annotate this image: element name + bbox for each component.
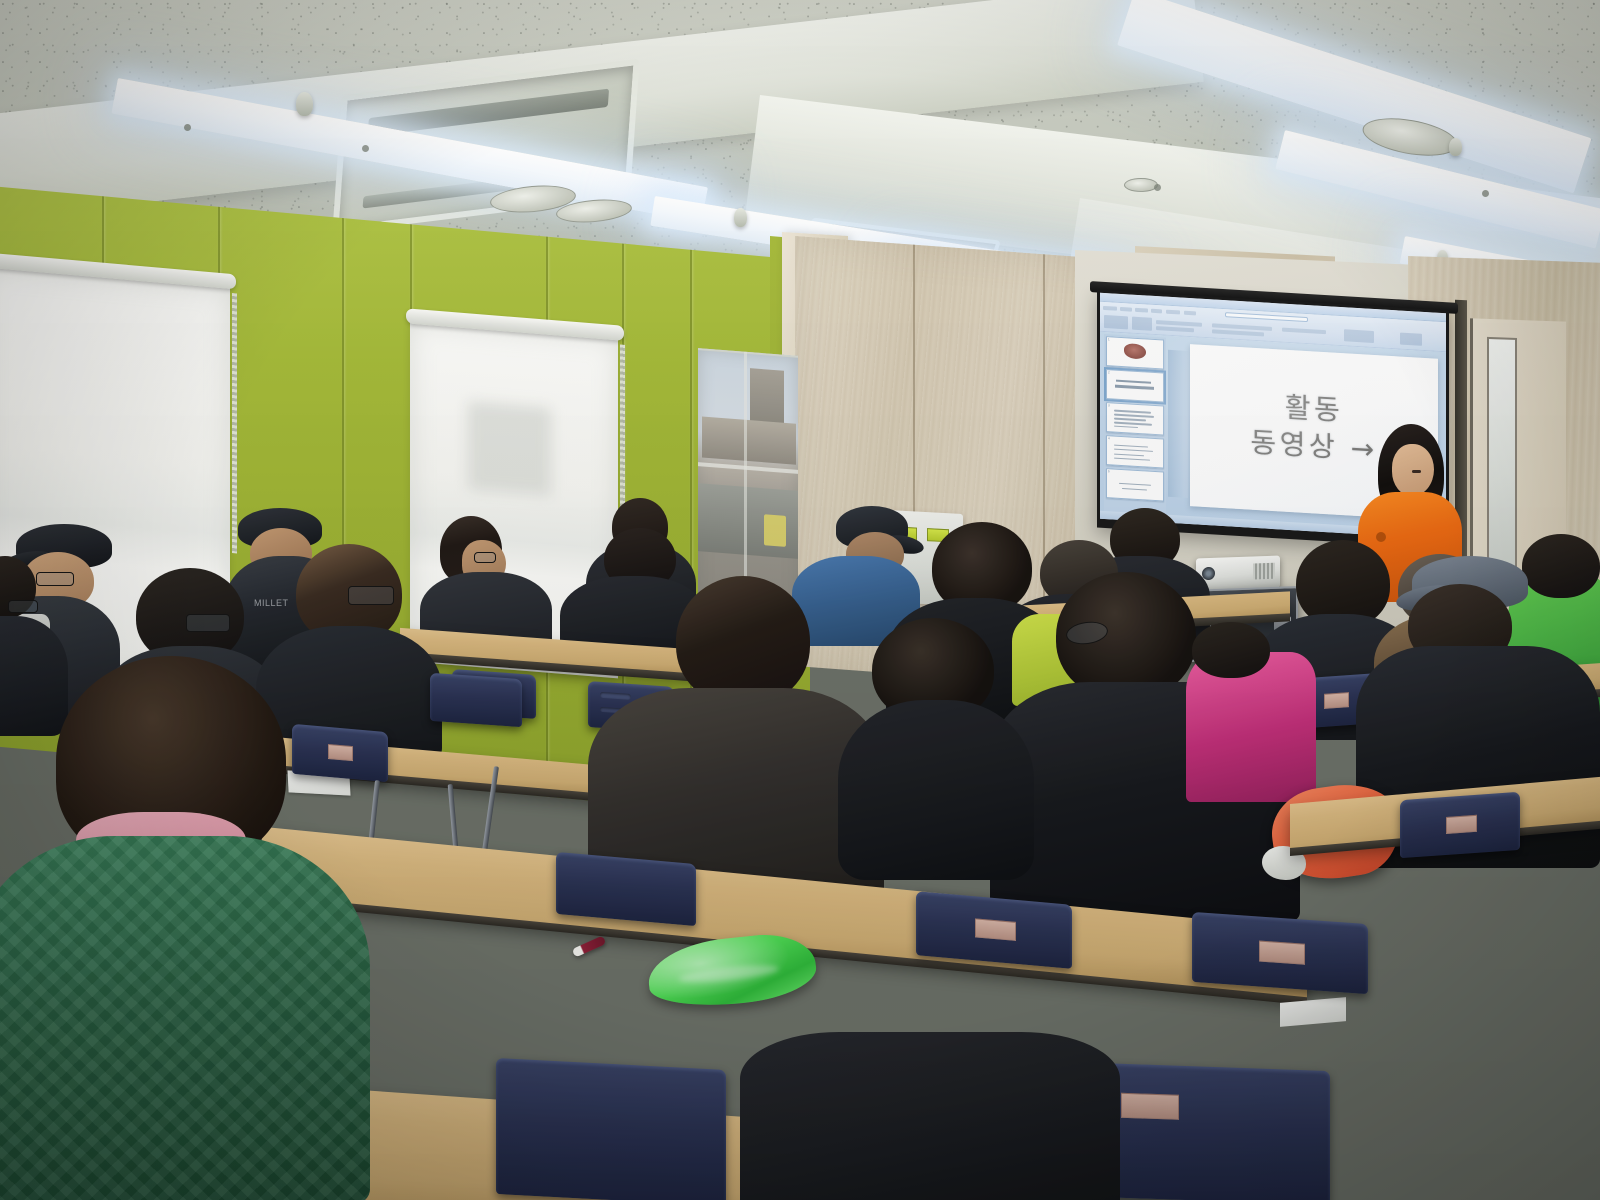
- chair-r2-1[interactable]: [292, 724, 388, 782]
- ceiling-sprinkler-4: [1482, 190, 1489, 197]
- glasses-icon-far-left: [8, 600, 38, 613]
- slide-thumbnail-title-line-1: [1116, 379, 1151, 384]
- chair-r1-2[interactable]: [916, 891, 1072, 969]
- chair-r2-2[interactable]: [430, 673, 522, 727]
- light-socket-1: [296, 92, 313, 116]
- green-quilted-jacket: [0, 836, 370, 1200]
- slide-thumbnail-image: [1124, 343, 1146, 359]
- slide-thumbnail-2[interactable]: 2: [1106, 369, 1164, 403]
- blind-shadow-patch: [468, 401, 551, 496]
- slide-number-5: 5: [1108, 470, 1110, 474]
- slide-number-1: 1: [1108, 337, 1110, 341]
- window-mullion-h: [698, 463, 798, 475]
- slide-number-2: 2: [1108, 370, 1110, 374]
- slide-number-4: 4: [1108, 436, 1110, 440]
- glasses-icon-flatcap: [36, 572, 74, 586]
- slide-thumbnail-title-line-2: [1115, 385, 1154, 390]
- light-socket-3: [1449, 138, 1462, 156]
- marker-pen[interactable]: [572, 935, 607, 957]
- classroom-scene: 1 2 3: [0, 0, 1600, 1200]
- slide-number-3: 3: [1108, 403, 1110, 407]
- glasses-icon-bald: [348, 586, 394, 605]
- millet-brand-label: MILLET: [254, 598, 289, 608]
- handout-paper-row1: [1280, 997, 1346, 1027]
- blind-chain-left[interactable]: [232, 293, 237, 553]
- glasses-icon-backrow: [474, 552, 496, 563]
- chair-r1-4[interactable]: [1400, 792, 1520, 858]
- presenter-smile: [1412, 470, 1421, 473]
- ribbon-search-box[interactable]: [1225, 312, 1308, 322]
- outside-roof-1: [702, 416, 796, 465]
- chair-r1-1[interactable]: [556, 852, 696, 926]
- slide-thumbnail-1[interactable]: 1: [1106, 336, 1164, 370]
- ceiling-sprinkler-3: [1154, 184, 1161, 191]
- slide-thumbnail-4[interactable]: 4: [1106, 435, 1164, 469]
- slide-thumbnail-3[interactable]: 3: [1106, 402, 1164, 436]
- outside-yellow-object: [764, 514, 786, 547]
- slide-pane-gutter: [1168, 350, 1188, 498]
- projector-vent: [1253, 563, 1275, 580]
- presenter-jacket-button: [1376, 532, 1386, 542]
- slide-thumbnail-5[interactable]: 5: [1106, 468, 1164, 502]
- ceiling-sprinkler-1: [184, 124, 191, 131]
- slide-thumbnail-pane[interactable]: 1 2 3: [1104, 334, 1166, 519]
- video-projector: [1196, 556, 1280, 591]
- door-vision-panel: [1487, 337, 1517, 568]
- chair-foreground-center[interactable]: [496, 1058, 726, 1200]
- light-socket-2: [734, 208, 747, 227]
- ceiling-speaker-icon-4: [1124, 178, 1158, 192]
- ceiling-sprinkler-2: [362, 145, 369, 152]
- chair-r1-3[interactable]: [1192, 912, 1368, 994]
- glasses-icon-row3: [186, 614, 230, 632]
- window-mullion-v: [744, 352, 747, 612]
